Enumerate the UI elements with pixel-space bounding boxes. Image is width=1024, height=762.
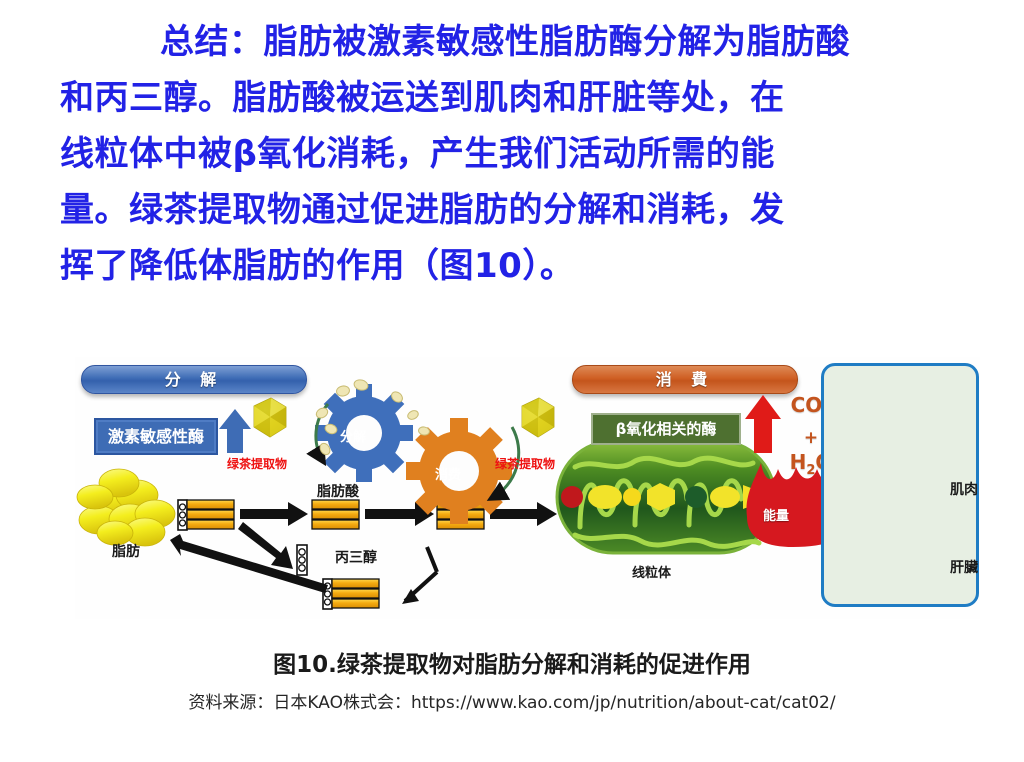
summary-line-5: 挥了降低体脂肪的作用（图10）。 [60, 238, 968, 294]
summary-paragraph: 总结：脂肪被激素敏感性脂肪酶分解为脂肪酸 和丙三醇。脂肪酸被运送到肌肉和肝脏等处… [60, 14, 968, 294]
figure-caption-source: 资料来源：日本KAO株式会：https://www.kao.com/jp/nut… [0, 688, 1024, 713]
green-tea-extract-polyhedron-right [522, 398, 554, 437]
beta-oxidation-enzyme-label: β氧化相关的酶 [591, 413, 741, 445]
hormone-sensitive-enzyme-label: 激素敏感性酶 [94, 418, 218, 455]
figure-diagram: 分 解 消 費 [75, 357, 980, 619]
blue-up-arrow [219, 409, 251, 453]
fat-droplet-cluster [77, 469, 175, 546]
triglyceride-molecule-1 [178, 500, 234, 530]
summary-line-4: 量。绿茶提取物通过促进脂肪的分解和消耗，发 [60, 182, 968, 238]
summary-line-1: 总结：脂肪被激素敏感性脂肪酶分解为脂肪酸 [60, 14, 968, 70]
glycerol-backbone [297, 545, 307, 575]
summary-line-3: 线粒体中被β氧化消耗，产生我们活动所需的能 [60, 126, 968, 182]
green-tea-extract-label-right: 绿茶提取物 [495, 455, 555, 472]
muscle-label: 肌肉 [950, 479, 978, 499]
liver-label: 肝臟 [950, 557, 978, 577]
fatty-acid-label: 脂肪酸 [317, 481, 359, 501]
figure-caption-title: 图10.绿茶提取物对脂肪分解和消耗的促进作用 [0, 645, 1024, 679]
green-tea-extract-polyhedron-left [254, 398, 286, 437]
summary-line-2: 和丙三醇。脂肪酸被运送到肌肉和肝脏等处，在 [60, 70, 968, 126]
fat-label: 脂肪 [112, 541, 140, 561]
mitochondria-label: 线粒体 [632, 562, 671, 581]
glycerol-label: 丙三醇 [335, 547, 377, 567]
triglyceride-molecule-2 [323, 579, 379, 609]
mitochondrion [557, 441, 775, 553]
green-tea-extract-label-left: 绿茶提取物 [227, 455, 287, 472]
fatty-acid-molecule-1 [312, 500, 359, 529]
